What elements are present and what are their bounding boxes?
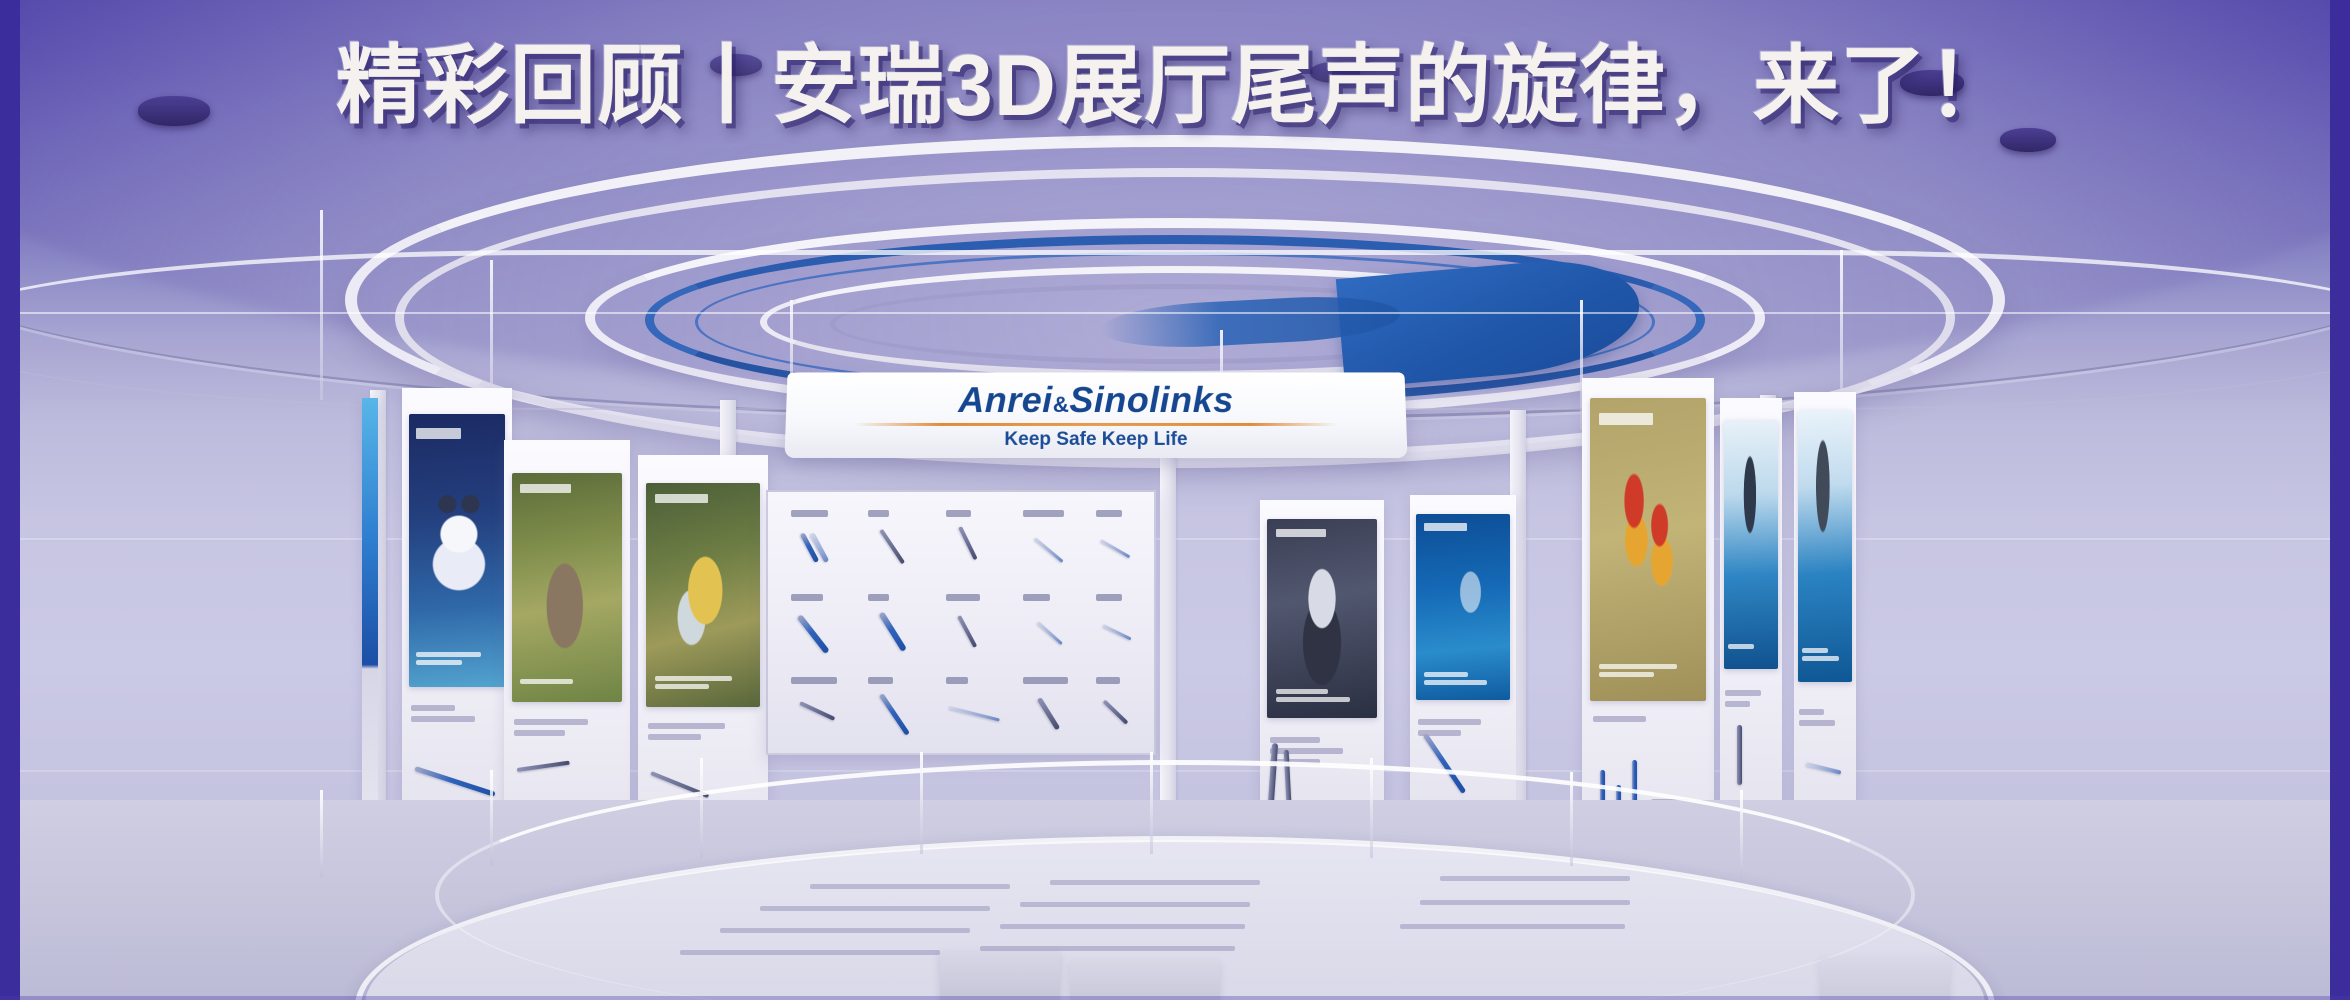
panel-text-block (1418, 719, 1507, 736)
ocean-poster[interactable] (1416, 514, 1509, 700)
floor-inscription (1020, 902, 1250, 907)
poster-brand-line (1276, 529, 1326, 537)
surgical-instrument (1102, 624, 1131, 640)
poster-brand-line (1424, 523, 1467, 530)
surgical-instrument (796, 614, 829, 654)
surgical-instrument (879, 529, 904, 564)
ceiling-spot-light (1900, 70, 1964, 96)
poster-brand-line (655, 494, 708, 503)
banner-bottom-border (0, 996, 2350, 1000)
surgical-instrument (1037, 621, 1063, 645)
ceiling-spot-light (710, 54, 762, 76)
panda-panel[interactable] (402, 388, 512, 828)
product-cell (1023, 594, 1085, 662)
product-label (946, 510, 972, 517)
surgical-instrument (878, 611, 907, 652)
panel-text-block (1593, 716, 1704, 722)
poster-caption (416, 652, 497, 665)
rail-post (1570, 772, 1573, 866)
surgical-instrument (957, 615, 977, 647)
rail-post (1370, 758, 1373, 858)
honey-badger-poster[interactable] (1267, 519, 1376, 717)
product-label (1023, 510, 1064, 517)
surgical-instrument (1037, 697, 1060, 730)
product-cell (946, 594, 1008, 662)
brand-ampersand: & (1053, 392, 1070, 417)
product-cell (791, 594, 853, 662)
surgical-instrument (1806, 762, 1842, 775)
eagle-panel[interactable] (1794, 392, 1856, 832)
poster-caption (1802, 648, 1848, 661)
kangaroo-poster[interactable] (512, 473, 623, 703)
panel-text-block (411, 705, 503, 722)
surgical-instrument (414, 767, 495, 798)
product-cell (791, 510, 853, 578)
eagle-poster[interactable] (1798, 410, 1853, 683)
stage-crate (1070, 960, 1220, 1000)
surgical-instrument (879, 693, 910, 736)
company-logo-banner[interactable]: Anrei&Sinolinks Keep Safe Keep Life (784, 372, 1407, 458)
product-label (791, 677, 837, 684)
product-cell (1023, 677, 1085, 740)
product-label (1096, 677, 1120, 684)
banner-left-border (0, 0, 20, 1000)
panel-text-block (1799, 709, 1851, 726)
product-cell (1096, 677, 1150, 740)
poster-caption (1276, 689, 1368, 702)
product-cell (1023, 510, 1085, 578)
penguin-panel[interactable] (1720, 398, 1782, 828)
floor-inscription (980, 946, 1235, 951)
product-cell (868, 677, 930, 740)
floor-inscription (1440, 876, 1630, 881)
brand-tagline: Keep Safe Keep Life (1004, 429, 1187, 451)
product-cell (1096, 510, 1150, 578)
exhibition-banner: Anrei&Sinolinks Keep Safe Keep Life (0, 0, 2350, 1000)
product-label (946, 594, 981, 601)
product-label (1096, 594, 1122, 601)
floor-inscription (810, 884, 1010, 889)
surgical-instrument (799, 701, 835, 721)
surgical-instrument (949, 706, 1000, 721)
product-label (868, 677, 893, 684)
poster-caption (1728, 644, 1774, 649)
product-cell (946, 677, 1008, 740)
rail-post (1740, 790, 1743, 878)
floor-inscription (1000, 924, 1245, 929)
logo-underline-rule (854, 423, 1338, 426)
stage-crate (1820, 958, 1950, 1000)
brand-logo-text: Anrei&Sinolinks (958, 379, 1234, 421)
ceiling-spot-light (1310, 62, 1360, 83)
floor-inscription (1400, 924, 1625, 929)
rail-post (700, 758, 703, 858)
surgical-instrument (959, 526, 978, 560)
kangaroo-panel[interactable] (504, 440, 630, 850)
product-cell (868, 594, 930, 662)
product-cell (868, 510, 930, 578)
product-label (1096, 510, 1122, 517)
surgical-instrument (1034, 538, 1063, 563)
poster-brand-line (520, 484, 571, 493)
product-label (868, 594, 889, 601)
rail-post (1150, 752, 1153, 854)
surgical-instrument (516, 761, 569, 772)
product-display-board[interactable] (766, 490, 1156, 755)
poster-caption (520, 679, 613, 684)
brand-name-left: Anrei (958, 379, 1053, 420)
floor-inscription (720, 928, 970, 933)
floor-inscription (1050, 880, 1260, 885)
ceiling-spot-light (2000, 128, 2056, 152)
penguin-poster[interactable] (1724, 420, 1779, 669)
poster-brand-line (416, 428, 461, 439)
product-label (791, 594, 823, 601)
brand-name-right: Sinolinks (1069, 379, 1234, 420)
panda-poster[interactable] (409, 414, 506, 687)
poster-caption (1424, 672, 1502, 685)
floor-inscription (680, 950, 940, 955)
virtual-exhibition-hall-scene: Anrei&Sinolinks Keep Safe Keep Life (20, 0, 2330, 1000)
product-label (868, 510, 889, 517)
ceiling-spot-light (138, 96, 210, 126)
poster-caption (655, 676, 751, 689)
floor-inscription (760, 906, 990, 911)
surgical-instrument (1102, 699, 1128, 724)
frog-poster[interactable] (646, 483, 760, 707)
banner-right-border (2330, 0, 2350, 1000)
surgical-instrument (1737, 725, 1742, 785)
floor-inscription (1420, 900, 1630, 905)
poster-brand-line (1599, 413, 1652, 425)
panel-text-block (1725, 690, 1777, 707)
stage-crate (940, 952, 1060, 1000)
product-label (1023, 677, 1069, 684)
product-cell (791, 677, 853, 740)
panel-text-block (648, 723, 757, 740)
blue-accent-pillar (362, 398, 378, 828)
rail-post (920, 752, 923, 854)
panel-text-block (514, 719, 620, 736)
rail-post (320, 790, 323, 878)
product-cell (1096, 594, 1150, 662)
bee-eater-poster[interactable] (1590, 398, 1706, 702)
product-label (946, 677, 968, 684)
surgical-instrument (1101, 539, 1131, 558)
product-label (791, 510, 828, 517)
rail-post (490, 770, 493, 866)
poster-caption (1599, 664, 1697, 677)
product-label (1023, 594, 1050, 601)
product-cell (946, 510, 1008, 578)
